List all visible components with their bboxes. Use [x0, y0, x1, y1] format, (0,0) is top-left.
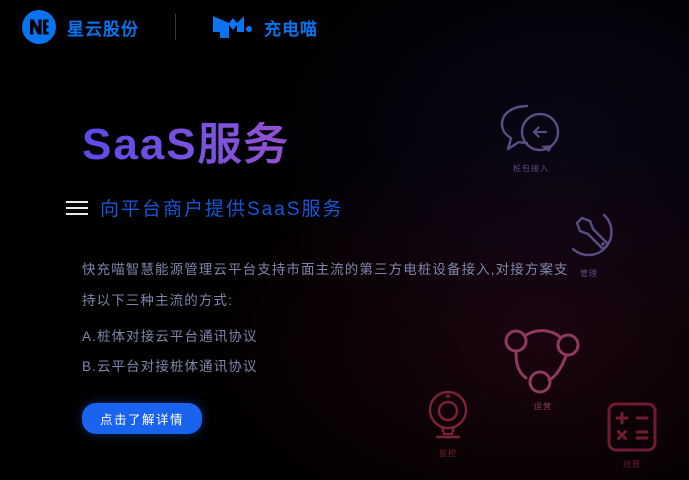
deco-network: 运营	[500, 322, 586, 411]
learn-more-button[interactable]: 点击了解详情	[82, 403, 202, 434]
brand-xingyun[interactable]: 星云股份	[22, 10, 139, 44]
network-nodes-icon	[500, 322, 586, 401]
cat-face-logo-icon	[212, 14, 256, 40]
deco-calculator: 结算	[605, 400, 659, 469]
camera-icon	[420, 387, 476, 448]
deco-chat-bubbles-label: 桩包接入	[513, 165, 549, 173]
hero-body-paragraph: 快充喵智慧能源管理云平台支持市面主流的第三方电桩设备接入,对接方案支持以下三种主…	[82, 255, 582, 316]
calculator-icon	[605, 400, 659, 459]
brand-xingyun-label: 星云股份	[67, 15, 139, 40]
hero-body: 快充喵智慧能源管理云平台支持市面主流的第三方电桩设备接入,对接方案支持以下三种主…	[82, 255, 582, 316]
hamburger-icon	[66, 201, 88, 215]
brand-chongdianmiao[interactable]: 充电喵	[212, 14, 318, 40]
brand-chongdianmiao-label: 充电喵	[264, 15, 318, 40]
ne-circle-logo-icon	[22, 10, 56, 44]
hero-subtitle-row: 向平台商户提供SaaS服务	[66, 194, 602, 221]
site-header: 星云股份 充电喵	[0, 0, 689, 54]
deco-wrench: 管理	[560, 205, 618, 278]
deco-chat-bubbles: 桩包接入	[497, 100, 565, 173]
deco-calculator-label: 结算	[623, 461, 641, 469]
deco-camera-label: 监控	[439, 450, 457, 458]
deco-network-label: 运营	[534, 403, 552, 411]
hero-subtitle: 向平台商户提供SaaS服务	[100, 194, 343, 221]
header-divider	[175, 14, 176, 40]
page-root: 星云股份 充电喵 SaaS服务 向平台商户提供SaaS服务 快充喵智慧能源管理云…	[0, 0, 689, 480]
chat-bubbles-icon	[497, 100, 565, 163]
wrench-icon	[560, 205, 618, 268]
deco-wrench-label: 管理	[580, 270, 598, 278]
deco-camera: 监控	[420, 387, 476, 458]
